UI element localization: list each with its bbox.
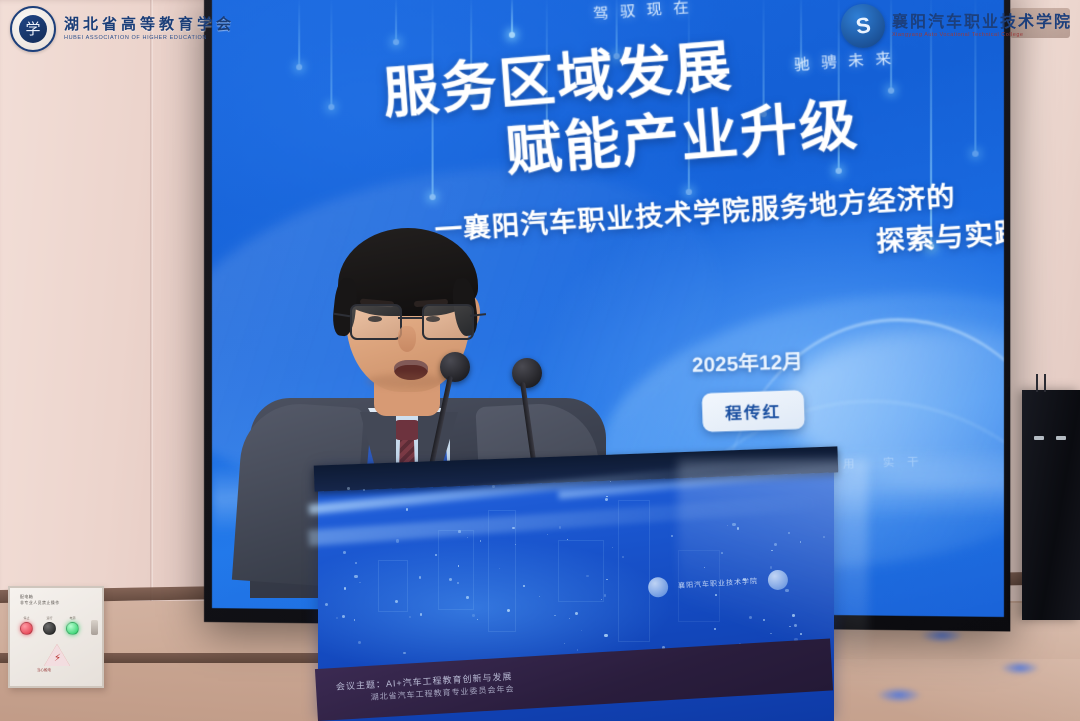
podium-seal-icon — [648, 577, 669, 598]
podium-dot — [581, 630, 582, 631]
lamp-group-stop: 停止 — [20, 616, 33, 635]
cabinet-indicator-icon — [1034, 436, 1044, 440]
podium-dot — [800, 541, 802, 543]
podium-dot — [771, 550, 772, 551]
podium-dot — [347, 487, 350, 490]
cabinet-indicator-icon — [1056, 436, 1066, 440]
eyeglass-lens — [422, 304, 474, 340]
podium-dot — [671, 535, 673, 537]
podium-dot — [823, 536, 825, 538]
podium-dot — [355, 562, 357, 564]
podium-dot — [749, 616, 752, 619]
podium-dot — [396, 539, 399, 542]
podium-dot — [559, 526, 562, 529]
lamp-label: 电源 — [69, 616, 75, 620]
xiangyang-college-swoosh-icon: S — [841, 4, 885, 48]
panel-switch-knob[interactable] — [91, 620, 98, 635]
podium-logo-text: 襄阳汽车职业技术学院 — [678, 576, 758, 591]
electrical-control-panel[interactable]: 配电箱 非专业人员禁止操作 停止 运行 电源 ⚡ 当心触电 — [8, 586, 104, 688]
microphone-right — [512, 358, 542, 388]
podium-dot — [523, 585, 525, 587]
light-streak — [330, 0, 332, 107]
hubei-association-cn-name: 湖北省高等教育学会 — [64, 17, 235, 34]
hubei-association-logo: 学 湖北省高等教育学会 HUBEI ASSOCIATION OF HIGHER … — [10, 6, 235, 52]
podium-dot — [472, 614, 475, 617]
podium-dot — [403, 652, 406, 655]
light-streak — [511, 0, 513, 35]
hubei-association-logo-text: 湖北省高等教育学会 HUBEI ASSOCIATION OF HIGHER ED… — [64, 17, 235, 41]
light-streak — [298, 0, 300, 67]
eyeglass-lens — [350, 304, 402, 340]
podium-dot — [605, 498, 608, 501]
podium-dot — [606, 579, 607, 580]
podium-circuit-box — [438, 530, 474, 610]
indicator-lamp-row: 停止 运行 电源 — [20, 616, 92, 635]
podium-dot — [435, 554, 437, 556]
lamp-group-power: 电源 — [66, 616, 79, 635]
loudspeaker-cabinet — [1022, 390, 1080, 620]
podium-dot — [539, 596, 540, 597]
microphone-head-icon — [440, 352, 470, 382]
podium-dot — [564, 643, 565, 644]
panel-label: 配电箱 非专业人员禁止操作 — [20, 594, 60, 606]
floor-reflection — [1000, 661, 1040, 675]
cabinet-cable — [1036, 374, 1038, 392]
hubei-association-en-name: HUBEI ASSOCIATION OF HIGHER EDUCATION — [64, 35, 235, 41]
light-streak — [395, 0, 397, 42]
podium-dot — [358, 641, 361, 644]
podium-dot — [569, 618, 570, 619]
seal-inner-ring: 学 — [19, 15, 47, 43]
podium-dot — [610, 481, 611, 482]
speaker-nose — [398, 326, 416, 352]
podium-circuit-box — [558, 540, 604, 602]
podium-dot — [721, 552, 723, 554]
conference-hall-photo: 配电箱 非专业人员禁止操作 停止 运行 电源 ⚡ 当心触电 — [0, 0, 1080, 721]
podium-dot — [547, 534, 548, 535]
podium-theme-text: 会议主题：AI+汽车工程教育创新与发展 湖北省汽车工程教育专业委员会年会 — [336, 669, 515, 707]
podium-dot — [354, 575, 357, 578]
podium-dot — [480, 540, 481, 541]
podium-dot — [354, 619, 355, 620]
podium-dot — [612, 547, 613, 548]
podium-dot — [606, 496, 607, 497]
black-indicator-lamp-icon — [43, 622, 56, 635]
podium-circuit-box — [488, 510, 516, 632]
lamp-group-run: 运行 — [43, 616, 56, 635]
hubei-association-seal-icon: 学 — [10, 6, 56, 52]
podium-dot — [406, 508, 409, 511]
podium-dot — [409, 616, 411, 618]
warning-text: 当心触电 — [37, 668, 51, 673]
red-indicator-lamp-icon — [20, 622, 33, 635]
lamp-label: 运行 — [46, 616, 52, 620]
podium-dot — [359, 582, 361, 584]
slide-date: 2025年12月 — [691, 345, 803, 378]
podium-dot — [420, 613, 423, 616]
podium-dot — [477, 619, 478, 620]
podium-dot — [344, 587, 346, 589]
podium-dot — [419, 576, 422, 579]
cabinet-cable — [1044, 374, 1046, 392]
podium-dot — [342, 615, 345, 618]
podium-dot — [792, 614, 795, 617]
swoosh-glyph: S — [854, 14, 872, 38]
podium-dot — [575, 612, 578, 615]
green-indicator-lamp-icon — [66, 622, 79, 635]
podium-dot — [604, 594, 606, 596]
floor-reflection — [876, 687, 922, 703]
podium-circuit-box — [618, 500, 650, 642]
microphone-left — [440, 352, 470, 382]
presenter-name-badge: 程传红 — [702, 390, 805, 432]
eyeglass-bridge — [398, 317, 422, 319]
podium-dot — [554, 615, 556, 617]
podium-swoosh-icon — [767, 569, 788, 590]
xiangyang-college-cn-name: 襄阳汽车职业技术学院 — [892, 14, 1072, 32]
xiangyang-college-en-name: Xiangyang Auto Vocational Technical Coll… — [892, 32, 1023, 38]
xiangyang-college-logo: S 襄阳汽车职业技术学院 Xiangyang Auto Vocational T… — [841, 4, 1072, 48]
podium-dot — [343, 551, 346, 554]
speaker-chin-shadow — [366, 374, 446, 388]
podium: 襄阳汽车职业技术学院 会议主题：AI+汽车工程教育创新与发展 湖北省汽车工程教育… — [318, 470, 834, 721]
xiangyang-college-logo-text: 襄阳汽车职业技术学院 Xiangyang Auto Vocational Tec… — [892, 14, 1072, 39]
slide-kicker-left: 驾驭现在 — [592, 0, 700, 24]
podium-dot — [325, 603, 328, 606]
seal-glyph: 学 — [25, 22, 40, 37]
podium-dot — [577, 649, 578, 650]
microphone-head-icon — [512, 358, 542, 388]
podium-dot — [363, 489, 365, 491]
speaker-necktie-knot — [394, 420, 420, 440]
lightning-bolt-icon: ⚡ — [54, 654, 61, 664]
podium-dot — [336, 617, 338, 619]
podium-dot — [789, 626, 791, 628]
lamp-label: 停止 — [23, 616, 29, 620]
podium-circuit-box — [378, 560, 408, 612]
podium-dot — [604, 634, 607, 637]
